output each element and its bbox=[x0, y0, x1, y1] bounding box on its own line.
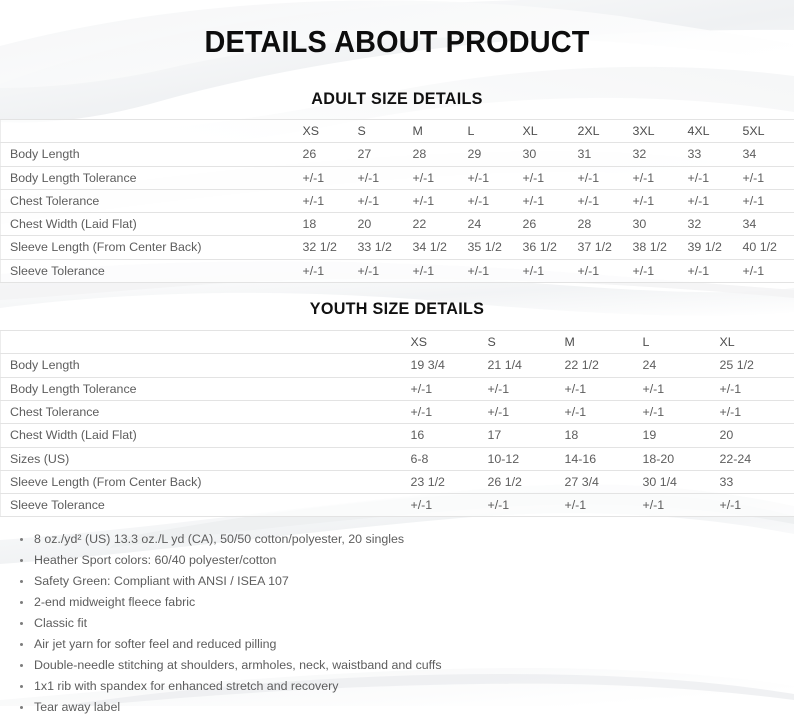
feature-text: Double-needle stitching at shoulders, ar… bbox=[34, 658, 442, 672]
youth-row-label: Sleeve Length (From Center Back) bbox=[1, 470, 409, 493]
youth-size-header-xl: XL bbox=[718, 331, 794, 354]
youth-size-section-title: YOUTH SIZE DETAILS bbox=[20, 283, 774, 319]
table-row: Sleeve Tolerance+/-1+/-1+/-1+/-1+/-1 bbox=[1, 494, 794, 517]
youth-measurement-cell: +/-1 bbox=[486, 377, 563, 400]
feature-text: 2-end midweight fleece fabric bbox=[34, 595, 195, 609]
list-item: Air jet yarn for softer feel and reduced… bbox=[18, 634, 794, 655]
adult-measurement-cell: +/-1 bbox=[301, 259, 356, 282]
product-features-list: 8 oz./yd² (US) 13.3 oz./L yd (CA), 50/50… bbox=[0, 529, 794, 718]
bullet-dot-icon bbox=[20, 643, 23, 646]
youth-measurement-cell: +/-1 bbox=[563, 400, 641, 423]
adult-measurement-cell: +/-1 bbox=[686, 259, 741, 282]
adult-measurement-cell: 22 bbox=[411, 213, 466, 236]
adult-measurement-cell: 31 bbox=[576, 143, 631, 166]
bullet-dot-icon bbox=[20, 664, 23, 667]
adult-measurement-cell: 28 bbox=[576, 213, 631, 236]
adult-measurement-cell: +/-1 bbox=[521, 189, 576, 212]
adult-measurement-cell: 26 bbox=[521, 213, 576, 236]
table-row: Body Length Tolerance+/-1+/-1+/-1+/-1+/-… bbox=[1, 166, 794, 189]
bullet-dot-icon bbox=[20, 580, 23, 583]
adult-measurement-cell: +/-1 bbox=[576, 189, 631, 212]
adult-measurement-cell: +/-1 bbox=[741, 166, 794, 189]
feature-text: Classic fit bbox=[34, 616, 87, 630]
adult-size-header-m: M bbox=[411, 120, 466, 143]
adult-table-header-row: XSSMLXL2XL3XL4XL5XL bbox=[1, 120, 794, 143]
youth-measurement-cell: +/-1 bbox=[486, 400, 563, 423]
adult-size-header-4xl: 4XL bbox=[686, 120, 741, 143]
youth-measurement-cell: +/-1 bbox=[563, 494, 641, 517]
table-row: Body Length19 3/421 1/422 1/22425 1/2 bbox=[1, 354, 794, 377]
bullet-dot-icon bbox=[20, 538, 23, 541]
feature-text: Tear away label bbox=[34, 700, 120, 714]
adult-table-corner-cell bbox=[1, 120, 301, 143]
adult-measurement-cell: 28 bbox=[411, 143, 466, 166]
bullet-dot-icon bbox=[20, 622, 23, 625]
adult-measurement-cell: 32 bbox=[686, 213, 741, 236]
list-item: 8 oz./yd² (US) 13.3 oz./L yd (CA), 50/50… bbox=[18, 529, 794, 550]
youth-measurement-cell: 21 1/4 bbox=[486, 354, 563, 377]
youth-size-header-xs: XS bbox=[409, 331, 486, 354]
adult-measurement-cell: 20 bbox=[356, 213, 411, 236]
adult-measurement-cell: +/-1 bbox=[411, 259, 466, 282]
adult-row-label: Body Length Tolerance bbox=[1, 166, 301, 189]
adult-table-body: Body Length262728293031323334Body Length… bbox=[1, 143, 794, 283]
adult-measurement-cell: +/-1 bbox=[631, 259, 686, 282]
bullet-dot-icon bbox=[20, 601, 23, 604]
youth-measurement-cell: 22-24 bbox=[718, 447, 794, 470]
youth-measurement-cell: 16 bbox=[409, 424, 486, 447]
bullet-dot-icon bbox=[20, 706, 23, 709]
table-row: Chest Width (Laid Flat)1617181920 bbox=[1, 424, 794, 447]
adult-measurement-cell: 27 bbox=[356, 143, 411, 166]
adult-measurement-cell: +/-1 bbox=[521, 259, 576, 282]
list-item: Heather Sport colors: 60/40 polyester/co… bbox=[18, 550, 794, 571]
adult-measurement-cell: +/-1 bbox=[356, 189, 411, 212]
adult-measurement-cell: +/-1 bbox=[466, 259, 521, 282]
adult-measurement-cell: +/-1 bbox=[521, 166, 576, 189]
table-row: Chest Tolerance+/-1+/-1+/-1+/-1+/-1 bbox=[1, 400, 794, 423]
table-row: Sleeve Tolerance+/-1+/-1+/-1+/-1+/-1+/-1… bbox=[1, 259, 794, 282]
youth-row-label: Body Length Tolerance bbox=[1, 377, 409, 400]
youth-row-label: Sleeve Tolerance bbox=[1, 494, 409, 517]
adult-measurement-cell: 39 1/2 bbox=[686, 236, 741, 259]
adult-measurement-cell: 36 1/2 bbox=[521, 236, 576, 259]
adult-size-header-5xl: 5XL bbox=[741, 120, 794, 143]
adult-measurement-cell: +/-1 bbox=[356, 259, 411, 282]
youth-size-table: XSSMLXL Body Length19 3/421 1/422 1/2242… bbox=[0, 330, 794, 517]
youth-table-corner-cell bbox=[1, 331, 409, 354]
adult-measurement-cell: 35 1/2 bbox=[466, 236, 521, 259]
youth-measurement-cell: +/-1 bbox=[641, 377, 718, 400]
youth-table-body: Body Length19 3/421 1/422 1/22425 1/2Bod… bbox=[1, 354, 794, 517]
adult-measurement-cell: +/-1 bbox=[411, 189, 466, 212]
adult-measurement-cell: +/-1 bbox=[686, 189, 741, 212]
youth-row-label: Chest Width (Laid Flat) bbox=[1, 424, 409, 447]
adult-measurement-cell: +/-1 bbox=[631, 166, 686, 189]
table-row: Sizes (US)6-810-1214-1618-2022-24 bbox=[1, 447, 794, 470]
youth-measurement-cell: +/-1 bbox=[641, 494, 718, 517]
adult-measurement-cell: 33 1/2 bbox=[356, 236, 411, 259]
adult-measurement-cell: +/-1 bbox=[411, 166, 466, 189]
adult-size-header-l: L bbox=[466, 120, 521, 143]
adult-measurement-cell: +/-1 bbox=[576, 166, 631, 189]
adult-measurement-cell: 30 bbox=[631, 213, 686, 236]
youth-measurement-cell: 20 bbox=[718, 424, 794, 447]
youth-measurement-cell: +/-1 bbox=[718, 494, 794, 517]
product-details-page: DETAILS ABOUT PRODUCT ADULT SIZE DETAILS… bbox=[0, 0, 794, 706]
youth-measurement-cell: 6-8 bbox=[409, 447, 486, 470]
adult-size-header-2xl: 2XL bbox=[576, 120, 631, 143]
youth-table-head: XSSMLXL bbox=[1, 331, 794, 354]
bullet-dot-icon bbox=[20, 685, 23, 688]
adult-measurement-cell: 32 bbox=[631, 143, 686, 166]
adult-size-header-3xl: 3XL bbox=[631, 120, 686, 143]
list-item: Classic fit bbox=[18, 613, 794, 634]
youth-measurement-cell: 33 bbox=[718, 470, 794, 493]
adult-row-label: Chest Tolerance bbox=[1, 189, 301, 212]
bullet-dot-icon bbox=[20, 559, 23, 562]
list-item: Double-needle stitching at shoulders, ar… bbox=[18, 655, 794, 676]
adult-measurement-cell: +/-1 bbox=[686, 166, 741, 189]
youth-measurement-cell: 10-12 bbox=[486, 447, 563, 470]
adult-measurement-cell: 32 1/2 bbox=[301, 236, 356, 259]
adult-row-label: Sleeve Length (From Center Back) bbox=[1, 236, 301, 259]
adult-measurement-cell: 30 bbox=[521, 143, 576, 166]
adult-size-header-s: S bbox=[356, 120, 411, 143]
youth-measurement-cell: +/-1 bbox=[409, 400, 486, 423]
youth-measurement-cell: 25 1/2 bbox=[718, 354, 794, 377]
adult-measurement-cell: +/-1 bbox=[741, 259, 794, 282]
youth-measurement-cell: +/-1 bbox=[718, 377, 794, 400]
table-row: Body Length Tolerance+/-1+/-1+/-1+/-1+/-… bbox=[1, 377, 794, 400]
adult-measurement-cell: 34 1/2 bbox=[411, 236, 466, 259]
youth-measurement-cell: 23 1/2 bbox=[409, 470, 486, 493]
youth-size-header-m: M bbox=[563, 331, 641, 354]
table-row: Body Length262728293031323334 bbox=[1, 143, 794, 166]
youth-measurement-cell: +/-1 bbox=[486, 494, 563, 517]
youth-measurement-cell: +/-1 bbox=[409, 377, 486, 400]
feature-text: 1x1 rib with spandex for enhanced stretc… bbox=[34, 679, 338, 693]
youth-measurement-cell: 30 1/4 bbox=[641, 470, 718, 493]
adult-measurement-cell: +/-1 bbox=[631, 189, 686, 212]
youth-measurement-cell: 19 bbox=[641, 424, 718, 447]
adult-measurement-cell: 34 bbox=[741, 213, 794, 236]
list-item: 2-end midweight fleece fabric bbox=[18, 592, 794, 613]
adult-measurement-cell: +/-1 bbox=[301, 189, 356, 212]
adult-size-table: XSSMLXL2XL3XL4XL5XL Body Length262728293… bbox=[0, 119, 794, 283]
youth-measurement-cell: 18 bbox=[563, 424, 641, 447]
youth-row-label: Sizes (US) bbox=[1, 447, 409, 470]
adult-measurement-cell: 34 bbox=[741, 143, 794, 166]
adult-size-header-xs: XS bbox=[301, 120, 356, 143]
youth-measurement-cell: +/-1 bbox=[563, 377, 641, 400]
adult-measurement-cell: 40 1/2 bbox=[741, 236, 794, 259]
list-item: Safety Green: Compliant with ANSI / ISEA… bbox=[18, 571, 794, 592]
youth-table-header-row: XSSMLXL bbox=[1, 331, 794, 354]
youth-row-label: Chest Tolerance bbox=[1, 400, 409, 423]
adult-table-head: XSSMLXL2XL3XL4XL5XL bbox=[1, 120, 794, 143]
youth-measurement-cell: 14-16 bbox=[563, 447, 641, 470]
feature-text: Air jet yarn for softer feel and reduced… bbox=[34, 637, 276, 651]
youth-measurement-cell: 27 3/4 bbox=[563, 470, 641, 493]
adult-row-label: Sleeve Tolerance bbox=[1, 259, 301, 282]
adult-row-label: Chest Width (Laid Flat) bbox=[1, 213, 301, 236]
table-row: Sleeve Length (From Center Back)23 1/226… bbox=[1, 470, 794, 493]
adult-measurement-cell: +/-1 bbox=[741, 189, 794, 212]
adult-measurement-cell: +/-1 bbox=[301, 166, 356, 189]
adult-measurement-cell: 18 bbox=[301, 213, 356, 236]
adult-size-header-xl: XL bbox=[521, 120, 576, 143]
youth-size-header-l: L bbox=[641, 331, 718, 354]
adult-measurement-cell: 24 bbox=[466, 213, 521, 236]
adult-measurement-cell: +/-1 bbox=[466, 189, 521, 212]
table-row: Chest Width (Laid Flat)18202224262830323… bbox=[1, 213, 794, 236]
adult-measurement-cell: 37 1/2 bbox=[576, 236, 631, 259]
table-row: Chest Tolerance+/-1+/-1+/-1+/-1+/-1+/-1+… bbox=[1, 189, 794, 212]
adult-measurement-cell: +/-1 bbox=[466, 166, 521, 189]
feature-text: 8 oz./yd² (US) 13.3 oz./L yd (CA), 50/50… bbox=[34, 532, 404, 546]
list-item: 1x1 rib with spandex for enhanced stretc… bbox=[18, 676, 794, 697]
list-item: Tear away label bbox=[18, 697, 794, 718]
adult-measurement-cell: +/-1 bbox=[576, 259, 631, 282]
adult-measurement-cell: 33 bbox=[686, 143, 741, 166]
page-title: DETAILS ABOUT PRODUCT bbox=[28, 0, 766, 60]
feature-text: Heather Sport colors: 60/40 polyester/co… bbox=[34, 553, 276, 567]
adult-row-label: Body Length bbox=[1, 143, 301, 166]
youth-measurement-cell: +/-1 bbox=[718, 400, 794, 423]
youth-size-header-s: S bbox=[486, 331, 563, 354]
youth-measurement-cell: 19 3/4 bbox=[409, 354, 486, 377]
adult-measurement-cell: 26 bbox=[301, 143, 356, 166]
adult-measurement-cell: 29 bbox=[466, 143, 521, 166]
adult-measurement-cell: 38 1/2 bbox=[631, 236, 686, 259]
feature-text: Safety Green: Compliant with ANSI / ISEA… bbox=[34, 574, 289, 588]
youth-measurement-cell: 24 bbox=[641, 354, 718, 377]
youth-measurement-cell: 26 1/2 bbox=[486, 470, 563, 493]
adult-measurement-cell: +/-1 bbox=[356, 166, 411, 189]
youth-measurement-cell: 17 bbox=[486, 424, 563, 447]
table-row: Sleeve Length (From Center Back)32 1/233… bbox=[1, 236, 794, 259]
youth-row-label: Body Length bbox=[1, 354, 409, 377]
youth-measurement-cell: 18-20 bbox=[641, 447, 718, 470]
youth-measurement-cell: +/-1 bbox=[409, 494, 486, 517]
adult-size-section-title: ADULT SIZE DETAILS bbox=[20, 60, 774, 109]
youth-measurement-cell: +/-1 bbox=[641, 400, 718, 423]
youth-measurement-cell: 22 1/2 bbox=[563, 354, 641, 377]
